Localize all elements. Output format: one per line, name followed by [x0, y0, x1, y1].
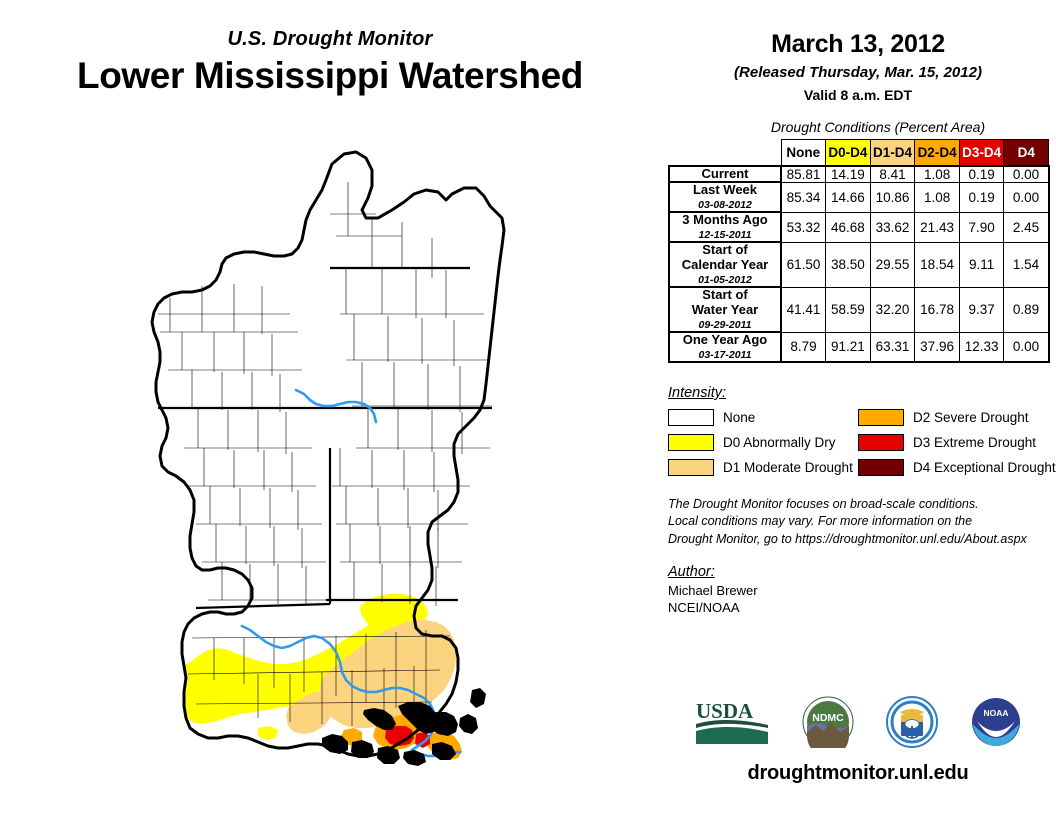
cell-d4: 0.00 — [1004, 166, 1049, 183]
cell-d3-d4: 9.11 — [959, 242, 1004, 287]
cell-d1-d4: 63.31 — [870, 332, 915, 362]
table-head: None D0-D4 D1-D4 D2-D4 D3-D4 D4 — [669, 140, 1049, 166]
title-block: U.S. Drought Monitor Lower Mississippi W… — [0, 0, 660, 97]
table-row: Last Week03-08-201285.3414.6610.861.080.… — [669, 182, 1049, 212]
author-affiliation: NCEI/NOAA — [668, 600, 1056, 617]
cell-d0-d4: 38.50 — [826, 242, 871, 287]
legend-swatch-d0 — [668, 434, 714, 451]
row-label-5: Start ofWater Year09-29-2011 — [669, 287, 781, 332]
author-block: Author: Michael Brewer NCEI/NOAA — [660, 564, 1056, 617]
cell-d0-d4: 91.21 — [826, 332, 871, 362]
legend-item-d4: D4 Exceptional Drought — [858, 459, 1048, 476]
cell-d4: 2.45 — [1004, 212, 1049, 242]
map-panel: U.S. Drought Monitor Lower Mississippi W… — [0, 0, 660, 816]
author-name: Michael Brewer — [668, 583, 1056, 600]
ndmc-logo: NDMC — [802, 696, 854, 753]
table-row: Start ofWater Year09-29-201141.4158.5932… — [669, 287, 1049, 332]
cell-none: 85.81 — [781, 166, 826, 183]
map-svg[interactable] — [140, 118, 510, 808]
column-header-none: None — [781, 140, 826, 166]
legend-swatch-d4 — [858, 459, 904, 476]
row-label-text: Start ofCalendar Year — [670, 243, 780, 273]
report-date: March 13, 2012 — [660, 30, 1056, 59]
row-label-date: 03-08-2012 — [670, 199, 780, 211]
column-header-d1-d4: D1-D4 — [870, 140, 915, 166]
drought-map[interactable] — [140, 118, 510, 808]
disclaimer-line-2: Local conditions may vary. For more info… — [668, 513, 1056, 530]
disclaimer: The Drought Monitor focuses on broad-sca… — [660, 496, 1056, 548]
row-label-text: One Year Ago — [670, 333, 780, 348]
row-label-4: Start ofCalendar Year01-05-2012 — [669, 242, 781, 287]
cell-d0-d4: 46.68 — [826, 212, 871, 242]
row-label-text: 3 Months Ago — [670, 213, 780, 228]
page-title: Lower Mississippi Watershed — [0, 56, 660, 97]
legend-label-d4: D4 Exceptional Drought — [913, 460, 1056, 475]
drought-area-d0-island — [258, 726, 278, 740]
valid-time: Valid 8 a.m. EDT — [660, 87, 1056, 103]
row-label-date: 12-15-2011 — [670, 229, 780, 241]
released-date: (Released Thursday, Mar. 15, 2012) — [660, 64, 1056, 81]
cell-d1-d4: 29.55 — [870, 242, 915, 287]
row-label-2: Last Week03-08-2012 — [669, 182, 781, 212]
table-row: One Year Ago03-17-20118.7991.2163.3137.9… — [669, 332, 1049, 362]
column-header-d3-d4: D3-D4 — [959, 140, 1004, 166]
cell-d1-d4: 8.41 — [870, 166, 915, 183]
cell-none: 85.34 — [781, 182, 826, 212]
row-label-6: One Year Ago03-17-2011 — [669, 332, 781, 362]
site-url[interactable]: droughtmonitor.unl.edu — [660, 762, 1056, 785]
date-block: March 13, 2012 (Released Thursday, Mar. … — [660, 0, 1056, 103]
cell-none: 8.79 — [781, 332, 826, 362]
state-boundaries — [158, 268, 492, 608]
legend-label-d3: D3 Extreme Drought — [913, 435, 1036, 450]
cell-d3-d4: 0.19 — [959, 182, 1004, 212]
legend-swatch-none — [668, 409, 714, 426]
cell-d4: 0.00 — [1004, 332, 1049, 362]
row-label-text: Last Week — [670, 183, 780, 198]
noaa-logo: NOAA — [970, 696, 1022, 753]
program-name: U.S. Drought Monitor — [0, 28, 660, 50]
legend-title: Intensity: — [668, 385, 1056, 401]
commerce-seal — [886, 696, 938, 753]
cell-none: 53.32 — [781, 212, 826, 242]
legend: Intensity: NoneD2 Severe DroughtD0 Abnor… — [660, 385, 1056, 476]
author-title: Author: — [668, 564, 1056, 580]
cell-d0-d4: 14.19 — [826, 166, 871, 183]
table-body: Current85.8114.198.411.080.190.00Last We… — [669, 166, 1049, 363]
cell-d2-d4: 16.78 — [915, 287, 960, 332]
disclaimer-line-3: Drought Monitor, go to https://droughtmo… — [668, 531, 1056, 548]
logo-row: USDA NDMC — [660, 693, 1056, 755]
legend-swatch-d1 — [668, 459, 714, 476]
cell-d4: 0.00 — [1004, 182, 1049, 212]
column-header-d0-d4: D0-D4 — [826, 140, 871, 166]
table-header-row: None D0-D4 D1-D4 D2-D4 D3-D4 D4 — [669, 140, 1049, 166]
svg-text:NOAA: NOAA — [983, 708, 1008, 718]
row-label-1: Current — [669, 166, 781, 183]
svg-text:USDA: USDA — [696, 699, 754, 723]
cell-d2-d4: 18.54 — [915, 242, 960, 287]
cell-d2-d4: 1.08 — [915, 182, 960, 212]
column-header-d2-d4: D2-D4 — [915, 140, 960, 166]
cell-d2-d4: 21.43 — [915, 212, 960, 242]
legend-item-d3: D3 Extreme Drought — [858, 434, 1048, 451]
cell-d3-d4: 12.33 — [959, 332, 1004, 362]
cell-d3-d4: 7.90 — [959, 212, 1004, 242]
table-row: Current85.8114.198.411.080.190.00 — [669, 166, 1049, 183]
legend-item-d1: D1 Moderate Drought — [668, 459, 858, 476]
cell-d0-d4: 14.66 — [826, 182, 871, 212]
row-label-text: Current — [670, 167, 780, 182]
cell-d3-d4: 0.19 — [959, 166, 1004, 183]
table-row: 3 Months Ago12-15-201153.3246.6833.6221.… — [669, 212, 1049, 242]
cell-d2-d4: 1.08 — [915, 166, 960, 183]
usda-logo: USDA — [694, 698, 770, 751]
table-corner-cell — [669, 140, 781, 166]
cell-d0-d4: 58.59 — [826, 287, 871, 332]
cell-d4: 0.89 — [1004, 287, 1049, 332]
cell-none: 61.50 — [781, 242, 826, 287]
cell-d3-d4: 9.37 — [959, 287, 1004, 332]
legend-item-none: None — [668, 409, 858, 426]
legend-item-d0: D0 Abnormally Dry — [668, 434, 858, 451]
legend-item-d2: D2 Severe Drought — [858, 409, 1048, 426]
legend-swatch-d3 — [858, 434, 904, 451]
table-caption: Drought Conditions (Percent Area) — [660, 119, 1056, 135]
cell-d4: 1.54 — [1004, 242, 1049, 287]
info-panel: March 13, 2012 (Released Thursday, Mar. … — [660, 0, 1056, 816]
legend-label-d1: D1 Moderate Drought — [723, 460, 853, 475]
cell-d1-d4: 32.20 — [870, 287, 915, 332]
legend-label-d2: D2 Severe Drought — [913, 410, 1029, 425]
legend-label-d0: D0 Abnormally Dry — [723, 435, 836, 450]
svg-text:NDMC: NDMC — [812, 712, 844, 724]
cell-d1-d4: 33.62 — [870, 212, 915, 242]
row-label-text: Start ofWater Year — [670, 288, 780, 318]
row-label-3: 3 Months Ago12-15-2011 — [669, 212, 781, 242]
legend-label-none: None — [723, 410, 755, 425]
cell-d2-d4: 37.96 — [915, 332, 960, 362]
column-header-d4: D4 — [1004, 140, 1049, 166]
row-label-date: 01-05-2012 — [670, 274, 780, 286]
row-label-date: 09-29-2011 — [670, 319, 780, 331]
cell-d1-d4: 10.86 — [870, 182, 915, 212]
disclaimer-line-1: The Drought Monitor focuses on broad-sca… — [668, 496, 1056, 513]
table-row: Start ofCalendar Year01-05-201261.5038.5… — [669, 242, 1049, 287]
cell-none: 41.41 — [781, 287, 826, 332]
drought-conditions-table: None D0-D4 D1-D4 D2-D4 D3-D4 D4 Current8… — [668, 139, 1050, 363]
legend-swatch-d2 — [858, 409, 904, 426]
row-label-date: 03-17-2011 — [670, 349, 780, 361]
legend-grid: NoneD2 Severe DroughtD0 Abnormally DryD3… — [668, 409, 1056, 476]
